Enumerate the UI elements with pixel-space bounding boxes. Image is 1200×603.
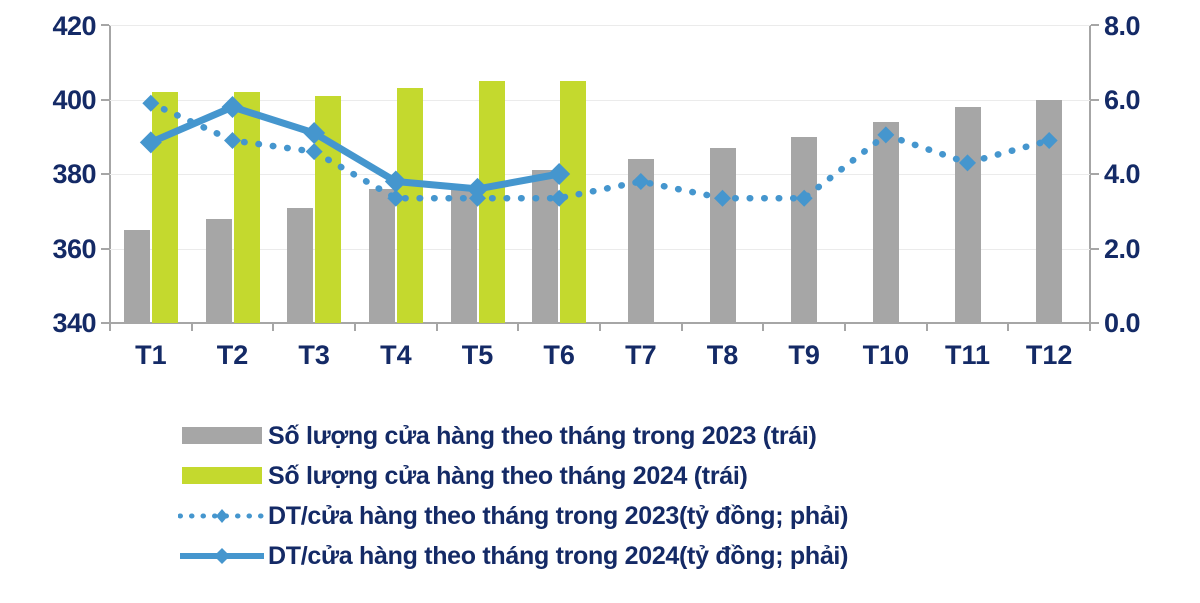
legend-label: Số lượng cửa hàng theo tháng 2024 (trái) [268,464,748,489]
line-2023-dotted [151,103,1049,198]
x-axis-tick-label: T1 [135,340,167,371]
plot-area [110,25,1090,323]
bar-2023 [451,189,477,323]
x-axis-tick-label: T3 [298,340,330,371]
right-axis-tick [1091,322,1099,324]
x-axis-tick-label: T7 [625,340,657,371]
x-axis-tick-label: T4 [380,340,412,371]
bar-2024 [315,96,341,323]
legend-label: Số lượng cửa hàng theo tháng trong 2023 … [268,424,817,449]
bar-2024 [560,81,586,323]
bar-2023 [124,230,150,323]
bar-2023 [369,189,395,323]
left-axis-tick [101,322,109,324]
bar-2024 [152,92,178,323]
solid-line-icon [178,542,266,570]
bar-2023 [287,208,313,323]
x-axis-tick [436,323,438,331]
x-axis-tick-label: T9 [788,340,820,371]
bar-2023 [955,107,981,323]
bar-2023 [873,122,899,323]
gray-swatch-icon [182,427,262,444]
chart-legend: Số lượng cửa hàng theo tháng trong 2023 … [176,416,1076,576]
x-axis-tick [1089,323,1091,331]
legend-item-2023-line[interactable]: DT/cửa hàng theo tháng trong 2023(tỷ đồn… [176,496,1076,536]
legend-item-2024-bar[interactable]: Số lượng cửa hàng theo tháng 2024 (trái) [176,456,1076,496]
legend-key-yellow-bar [176,456,268,496]
legend-item-2024-line[interactable]: DT/cửa hàng theo tháng trong 2024(tỷ đồn… [176,536,1076,576]
right-axis-tick [1091,173,1099,175]
legend-key-solid-line [176,536,268,576]
left-axis-tick [101,173,109,175]
x-axis-tick-label: T11 [945,340,990,371]
legend-key-gray-bar [176,416,268,456]
legend-label: DT/cửa hàng theo tháng trong 2024(tỷ đồn… [268,544,848,569]
legend-item-2023-bar[interactable]: Số lượng cửa hàng theo tháng trong 2023 … [176,416,1076,456]
bar-2023 [628,159,654,323]
x-axis-tick-label: T2 [217,340,249,371]
x-axis-tick [844,323,846,331]
bar-2023 [710,148,736,323]
x-axis-tick-label: T6 [543,340,575,371]
x-axis-tick [1007,323,1009,331]
x-axis-tick [272,323,274,331]
x-axis-tick-label: T10 [863,340,910,371]
left-axis-tick-label: 340 [6,308,96,339]
x-axis-tick-label: T8 [707,340,739,371]
x-axis-tick [599,323,601,331]
chart-root: 420 400 380 360 340 8.0 6.0 4.0 2.0 0.0 … [0,0,1200,603]
right-axis-tick [1091,99,1099,101]
bar-2024 [397,88,423,323]
right-axis-tick-label: 6.0 [1104,85,1194,116]
left-axis-tick [101,24,109,26]
left-axis-tick-label: 380 [6,159,96,190]
x-axis-tick [762,323,764,331]
x-axis-tick [354,323,356,331]
bar-2024 [234,92,260,323]
x-axis-tick [109,323,111,331]
bar-2023 [206,219,232,323]
x-axis-tick-label: T12 [1026,340,1073,371]
bar-2024 [479,81,505,323]
bar-2023 [1036,100,1062,324]
left-axis-tick-label: 400 [6,85,96,116]
x-axis-tick-label: T5 [462,340,494,371]
dotted-line-icon [178,502,266,530]
right-axis-tick [1091,24,1099,26]
x-axis-tick [926,323,928,331]
left-axis-tick-label: 420 [6,11,96,42]
x-axis-tick [191,323,193,331]
left-axis-tick [101,99,109,101]
legend-label: DT/cửa hàng theo tháng trong 2023(tỷ đồn… [268,504,848,529]
left-axis-tick [101,248,109,250]
right-axis-tick-label: 0.0 [1104,308,1194,339]
gridline [110,25,1090,26]
left-axis-tick-label: 360 [6,234,96,265]
legend-key-dotted-line [176,496,268,536]
x-axis-tick [681,323,683,331]
right-axis-tick [1091,248,1099,250]
right-axis-tick-label: 8.0 [1104,11,1194,42]
right-axis-tick-label: 4.0 [1104,159,1194,190]
right-axis-tick-label: 2.0 [1104,234,1194,265]
yellow-swatch-icon [182,467,262,484]
x-axis-tick [517,323,519,331]
bar-2023 [791,137,817,323]
bar-2023 [532,170,558,323]
